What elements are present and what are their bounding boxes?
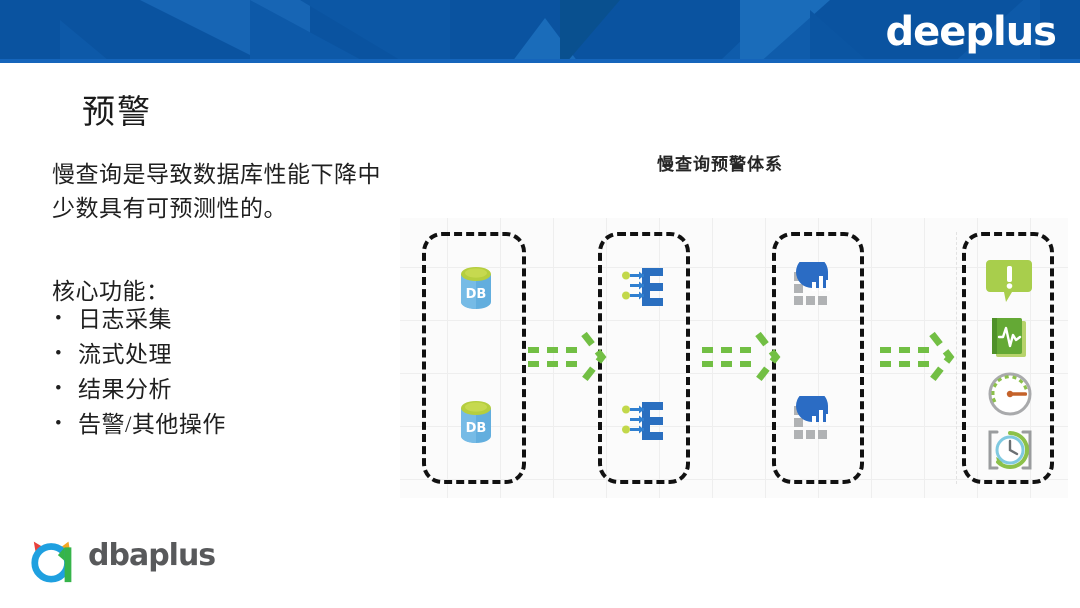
list-item: 流式处理 (52, 337, 226, 372)
db-icon: DB (453, 262, 499, 317)
diagram-canvas: DB DB (400, 218, 1068, 498)
list-item-label: 结果分析 (78, 377, 172, 402)
analytics-icon (788, 396, 846, 451)
flow-arrow-glyph (878, 330, 962, 388)
analytics-icon-glyph (788, 262, 846, 312)
slide-root: deeplus 预警 慢查询是导致数据库性能下降中少数具有可预测性的。 核心功能… (0, 0, 1080, 608)
gauge-icon (984, 368, 1036, 425)
dbaplus-mark-icon (26, 532, 84, 584)
header-facet (60, 20, 120, 63)
stream-icon (616, 396, 670, 451)
analytics-icon (788, 262, 846, 317)
header-facet (300, 0, 450, 63)
list-item: 告警/其他操作 (52, 407, 226, 442)
header-facet (810, 10, 880, 63)
dbaplus-logo: dbaplus (26, 528, 226, 588)
list-item-label: 告警/其他操作 (78, 412, 226, 437)
db-icon: DB (453, 396, 499, 451)
core-features-label: 核心功能： (52, 272, 170, 306)
slide-header: deeplus (0, 0, 1080, 63)
stream-icon-glyph (616, 262, 670, 312)
list-item: 日志采集 (52, 302, 226, 337)
analytics-icon-glyph (788, 396, 846, 446)
gauge-icon-glyph (984, 368, 1036, 420)
flow-arrow (878, 330, 960, 386)
header-facet (560, 0, 620, 63)
list-item-label: 日志采集 (78, 307, 172, 332)
list-item-label: 流式处理 (78, 342, 172, 367)
flow-arrow (700, 330, 782, 386)
diagram-title: 慢查询预警体系 (560, 150, 880, 175)
pulse-book-icon (984, 311, 1036, 368)
clock-refresh-icon-glyph (984, 424, 1036, 476)
svg-text:DB: DB (466, 287, 487, 302)
deeplus-logo: deeplus (885, 9, 1056, 55)
pulse-book-icon-glyph (984, 311, 1036, 363)
clock-refresh-icon (984, 424, 1036, 481)
db-icon-glyph: DB (453, 262, 499, 312)
core-features-list: 日志采集 流式处理 结果分析 告警/其他操作 (52, 302, 226, 442)
alert-bubble-icon-glyph (982, 254, 1036, 308)
db-icon-glyph: DB (453, 396, 499, 446)
flow-arrow-glyph (700, 330, 784, 388)
flow-arrow-glyph (526, 330, 610, 388)
svg-text:DB: DB (466, 421, 487, 436)
alert-bubble-icon (982, 254, 1036, 313)
header-underline (0, 59, 1080, 63)
list-item: 结果分析 (52, 372, 226, 407)
flow-arrow (526, 330, 608, 386)
page-title: 预警 (82, 85, 152, 133)
body-paragraph: 慢查询是导致数据库性能下降中少数具有可预测性的。 (52, 158, 402, 226)
stream-icon-glyph (616, 396, 670, 446)
stream-icon (616, 262, 670, 317)
dbaplus-wordmark: dbaplus (88, 538, 215, 573)
